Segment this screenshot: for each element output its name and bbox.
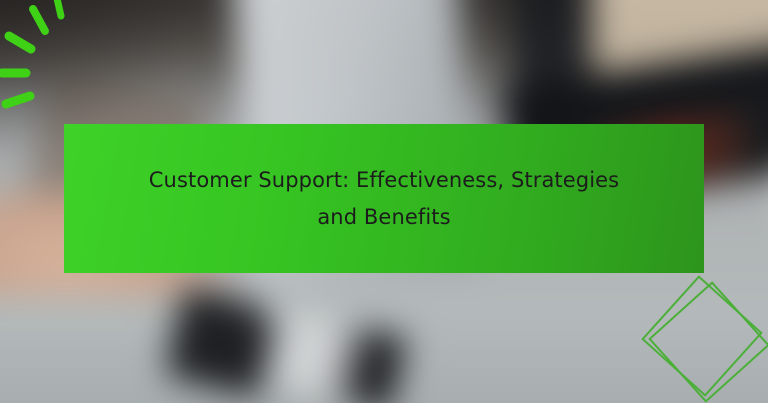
hero-banner-image: Customer Support: Effectiveness, Strateg… (0, 0, 768, 403)
page-title-line-2: and Benefits (317, 205, 450, 229)
page-title: Customer Support: Effectiveness, Strateg… (134, 162, 634, 236)
page-title-line-1: Customer Support: Effectiveness, Strateg… (149, 168, 619, 192)
title-banner: Customer Support: Effectiveness, Strateg… (64, 124, 704, 273)
burst-sparkle-icon (0, 0, 120, 120)
